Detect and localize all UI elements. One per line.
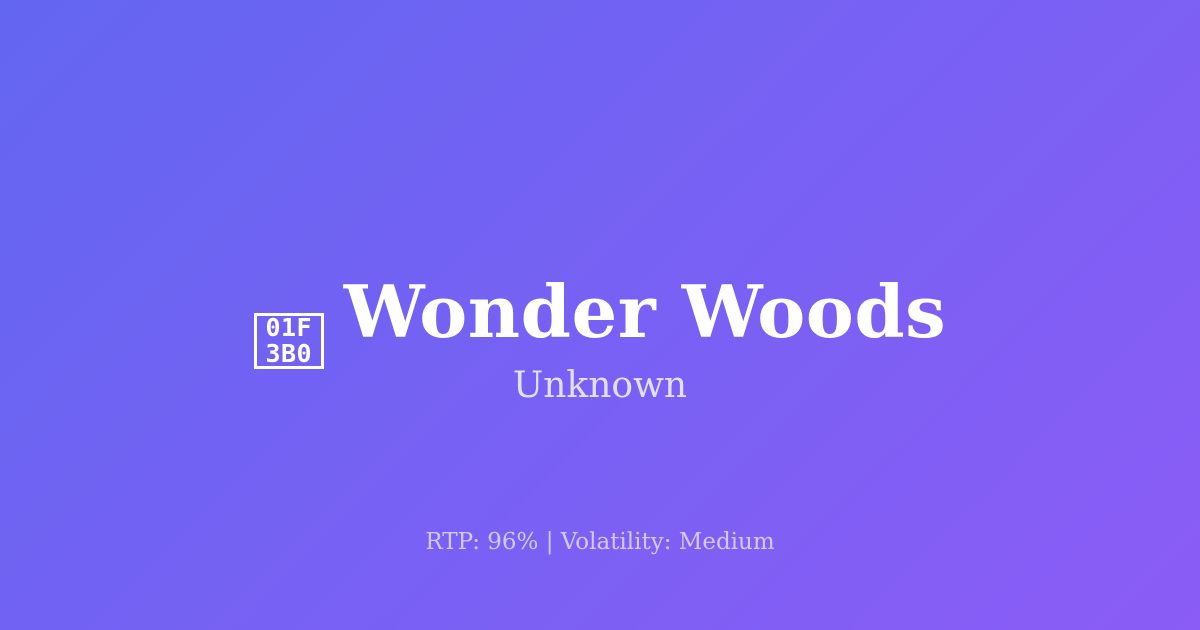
game-share-card: 01F 3B0 Wonder Woods Unknown RTP: 96% | …	[0, 0, 1200, 630]
provider-label: Unknown	[0, 363, 1200, 409]
slot-machine-icon: 01F 3B0	[254, 313, 324, 369]
title-row: 01F 3B0 Wonder Woods	[0, 228, 1200, 320]
page-title: Wonder Woods	[344, 276, 946, 348]
slot-machine-icon-codepoint-top: 01F	[265, 315, 312, 340]
game-stats: RTP: 96% | Volatility: Medium	[0, 527, 1200, 557]
